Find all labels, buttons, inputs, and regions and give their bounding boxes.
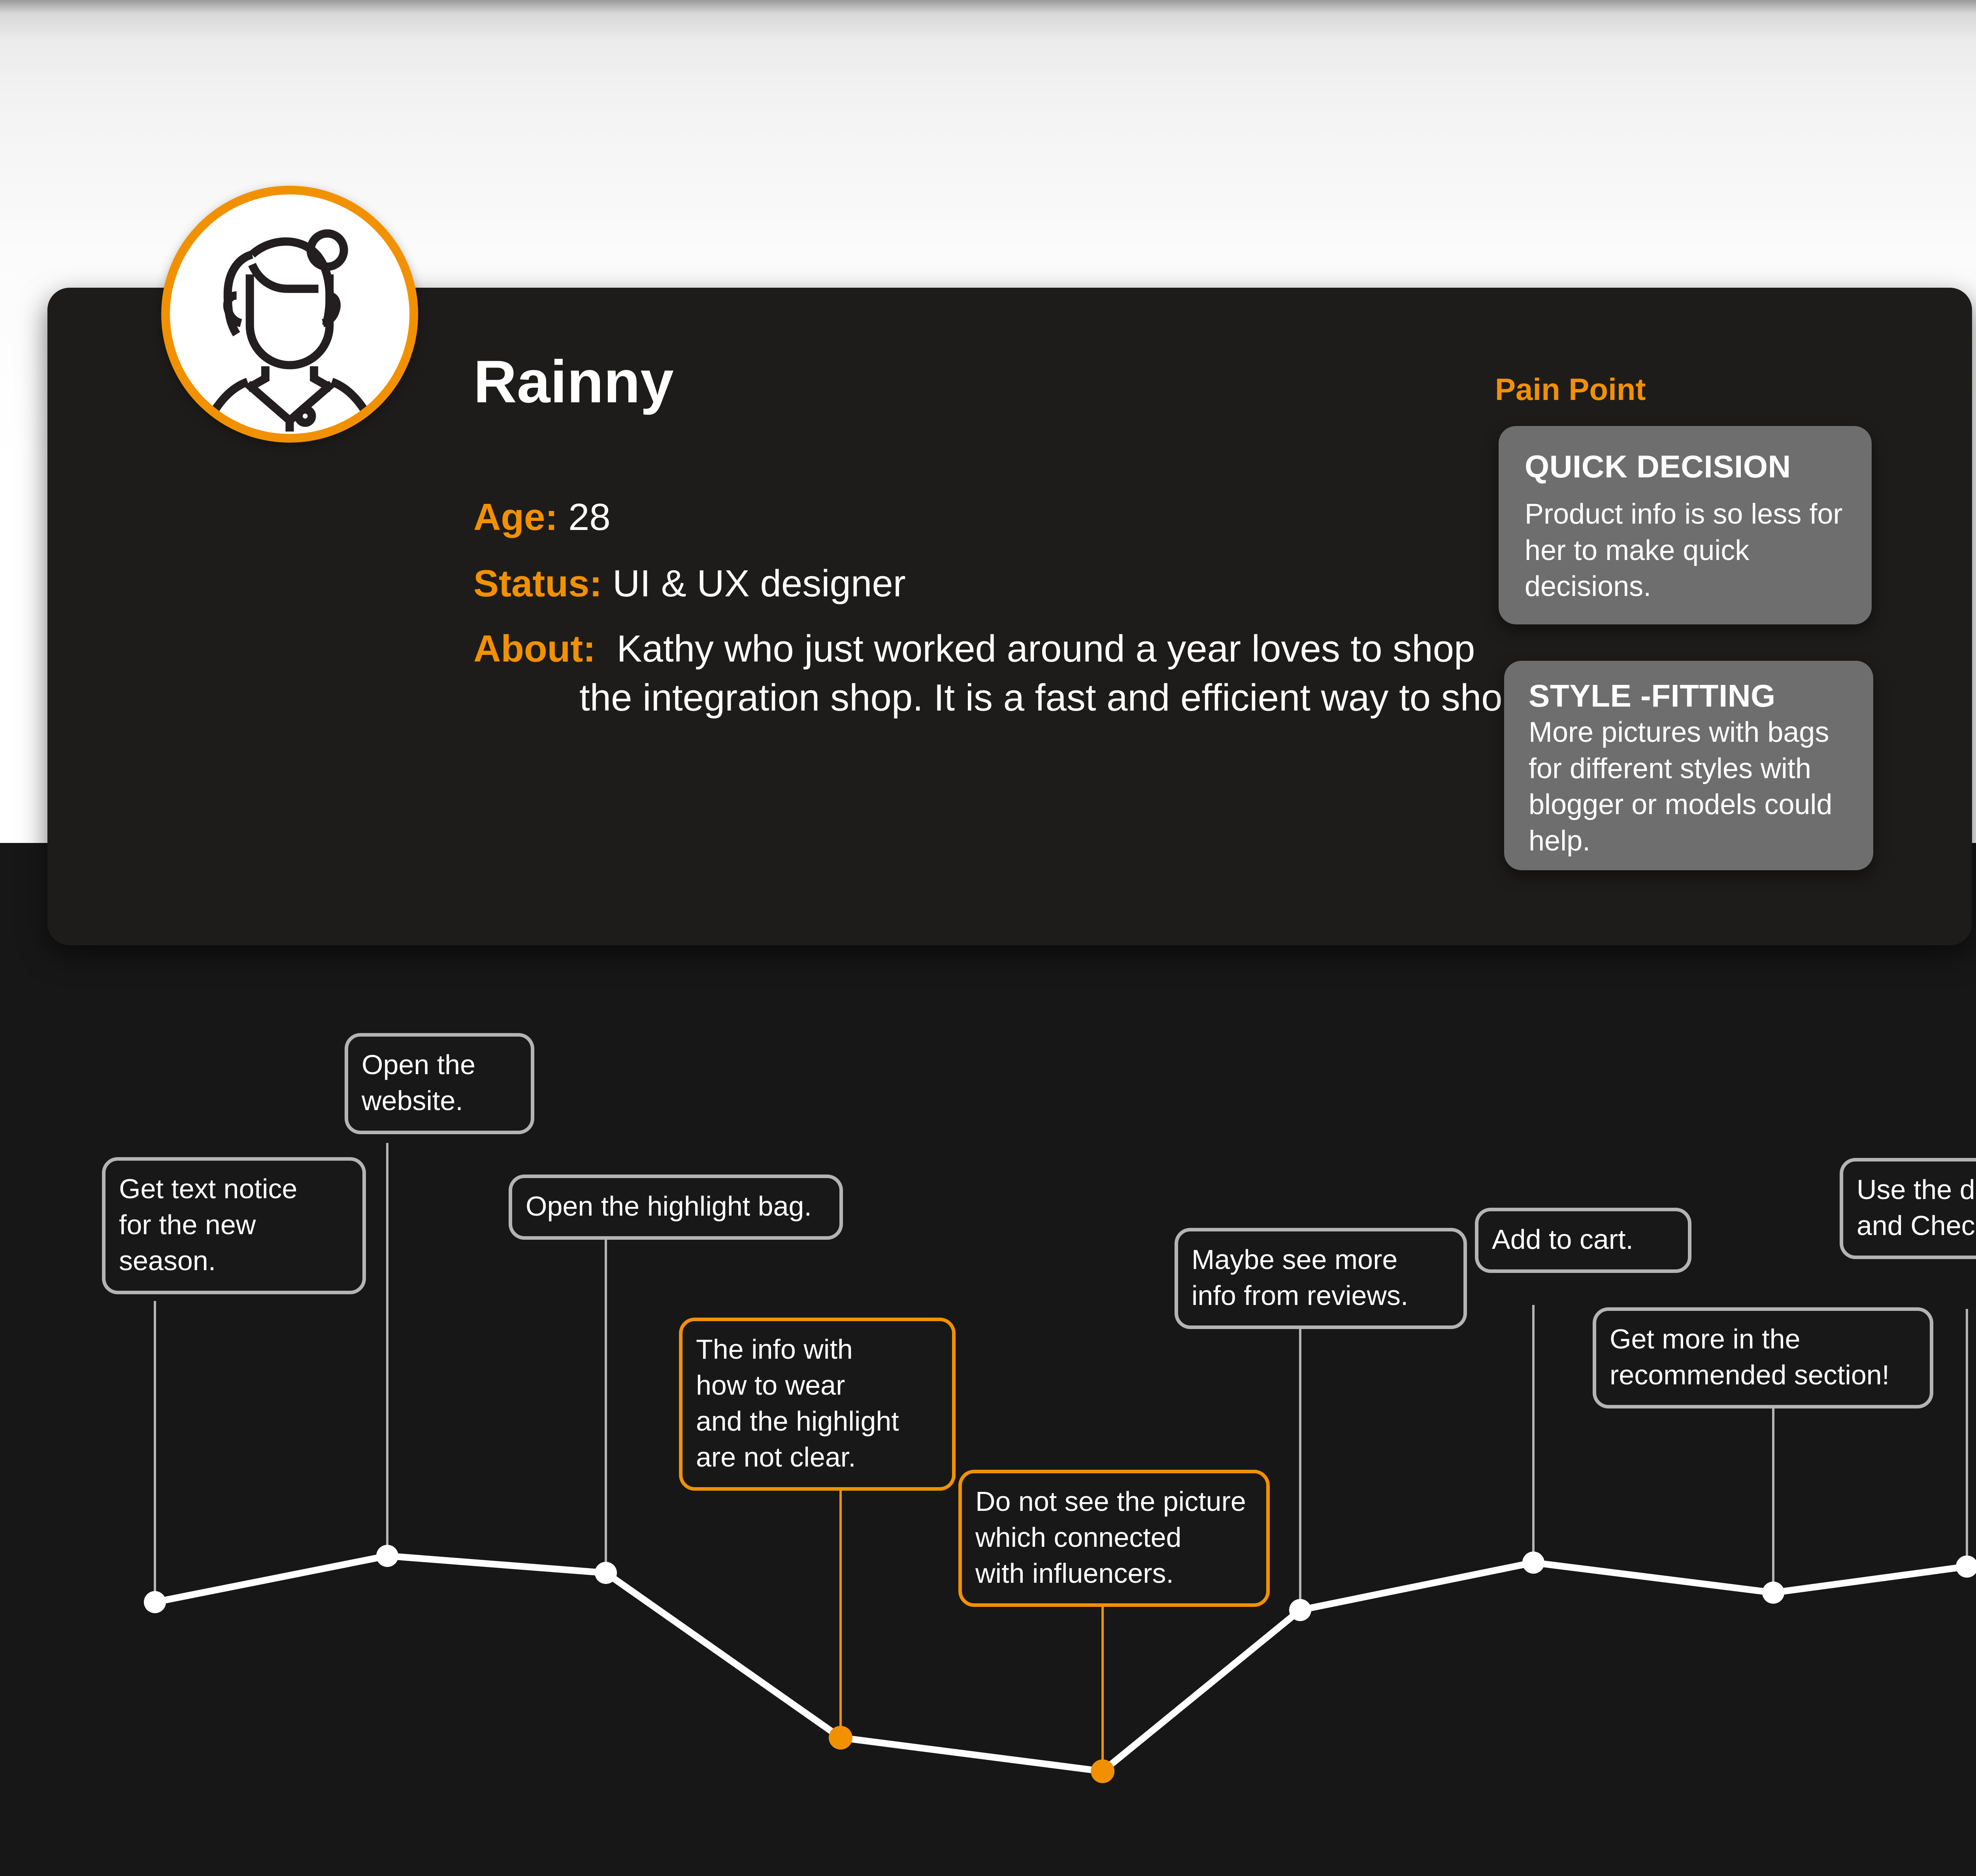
journey-callout-info-not-clear[interactable]: The info with how to wear and the highli… [679,1318,956,1491]
journey-node-6[interactable] [1289,1599,1311,1621]
avatar [161,186,418,443]
field-about: About: Kathy who just worked around a ye… [473,624,1534,722]
field-about-line2: the integration shop. It is a fast and e… [579,673,1534,722]
journey-callout-add-to-cart[interactable]: Add to cart. [1475,1208,1691,1273]
field-status: Status: UI & UX designer [473,564,906,603]
field-status-label: Status: [473,562,602,605]
pain-point-body: Product info is so less for her to make … [1525,496,1846,605]
pain-point-title: QUICK DECISION [1525,451,1846,483]
field-about-line1: Kathy who just worked around a year love… [617,628,1475,670]
journey-callout-no-influencer-picture[interactable]: Do not see the picture which connected w… [958,1470,1270,1607]
field-age-label: Age: [473,496,558,538]
journey-node-2[interactable] [376,1545,398,1567]
pain-point-card-style-fitting: STYLE -FITTING More pictures with bags f… [1504,661,1873,870]
field-age: Age: 28 [473,498,611,537]
journey-callout-recommended-section[interactable]: Get more in the recommended section! [1593,1307,1933,1408]
journey-node-4[interactable] [829,1726,852,1750]
journey-callout-open-highlight-bag[interactable]: Open the highlight bag. [509,1175,843,1240]
page-title: Rainny [473,352,674,412]
journey-node-9[interactable] [1956,1555,1976,1578]
pain-point-title: STYLE -FITTING [1529,680,1849,712]
journey-callout-use-discount[interactable]: Use the discount and Check all info. [1840,1158,1976,1259]
journey-callout-open-the-website[interactable]: Open the website. [345,1033,534,1134]
field-age-value: 28 [568,496,611,538]
field-about-label: About: [473,628,596,670]
journey-node-7[interactable] [1522,1552,1544,1574]
journey-line-chart [0,945,1976,1876]
journey-callout-get-text-notice[interactable]: Get text notice for the new season. [102,1157,366,1294]
field-status-value: UI & UX designer [613,562,906,605]
woman-avatar-icon [179,210,400,432]
persona-journey-page: Rainny Age: 28 Status: UI & UX designer … [0,0,1976,1876]
journey-callout-see-reviews[interactable]: Maybe see more info from reviews. [1175,1228,1467,1329]
pain-point-card-quick-decision: QUICK DECISION Product info is so less f… [1499,426,1872,624]
journey-node-8[interactable] [1762,1582,1784,1604]
journey-node-3[interactable] [595,1562,617,1584]
journey-node-1[interactable] [144,1591,166,1613]
pain-point-label: Pain Point [1495,371,1646,407]
journey-map: Get text notice for the new season. Open… [0,945,1976,1876]
journey-node-5[interactable] [1091,1759,1114,1783]
pain-point-body: More pictures with bags for different st… [1529,715,1849,859]
